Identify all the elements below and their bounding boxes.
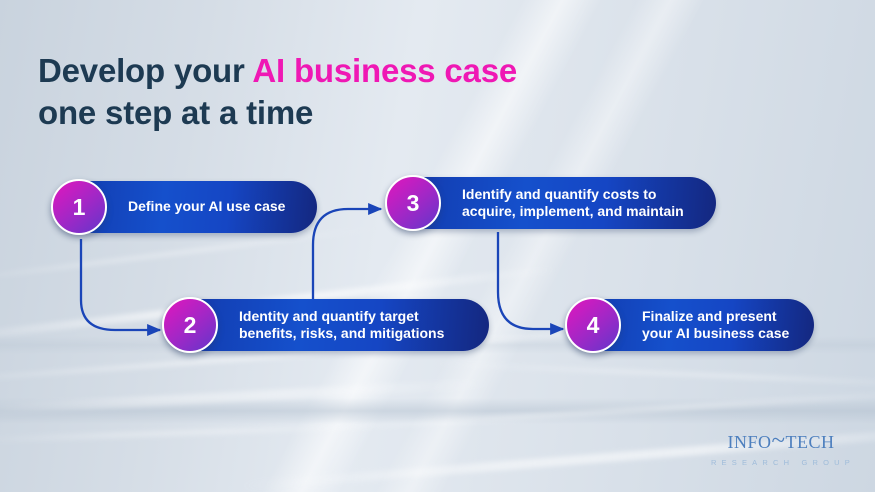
slide-canvas: Develop your AI business caseone step at… <box>0 0 875 492</box>
connector-3-to-4 <box>498 232 563 329</box>
step-3-number-badge: 3 <box>385 175 441 231</box>
info-tech-logo: Info~Tech RESEARCH GROUP <box>707 428 855 467</box>
step-4-label: Finalize and present your AI business ca… <box>642 308 789 343</box>
background-band <box>0 398 875 424</box>
background-streak <box>430 361 875 388</box>
background-streak <box>0 423 390 444</box>
logo-wordmark: Info~Tech <box>707 428 855 453</box>
title-line2: one step at a time <box>38 94 313 131</box>
connector-2-to-3 <box>313 209 381 299</box>
title-line1-plain: Develop your <box>38 52 252 89</box>
step-2-label: Identity and quantify target benefits, r… <box>239 308 444 343</box>
step-4-number-badge: 4 <box>565 297 621 353</box>
title-line1-accent: AI business case <box>252 52 517 89</box>
background-streak <box>0 226 379 283</box>
logo-tagline: RESEARCH GROUP <box>711 458 855 467</box>
connector-1-to-2 <box>81 239 160 330</box>
step-3-label: Identify and quantify costs to acquire, … <box>462 186 684 221</box>
page-title: Develop your AI business caseone step at… <box>38 50 517 134</box>
step-1-label: Define your AI use case <box>128 198 285 216</box>
step-2-number-badge: 2 <box>162 297 218 353</box>
step-1-number-badge: 1 <box>51 179 107 235</box>
background-streak <box>0 378 500 416</box>
